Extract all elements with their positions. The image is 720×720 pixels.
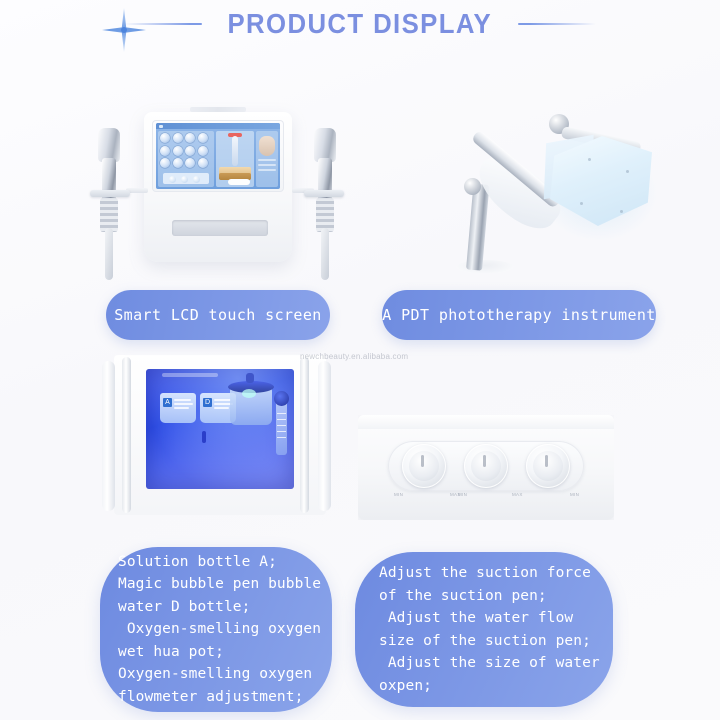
hua-pot-highlight — [242, 389, 256, 398]
left-handpiece — [92, 128, 126, 278]
bottom-icon — [181, 176, 188, 183]
handpiece-head — [314, 128, 336, 162]
bottle-d-label: D — [203, 398, 212, 407]
face-caption-line — [258, 164, 276, 166]
flowmeter-tick — [277, 437, 286, 438]
left-handpiece-holder — [90, 190, 130, 197]
function-icon — [198, 146, 208, 156]
right-handpiece — [308, 128, 342, 278]
solution-line: water D bottle; — [118, 596, 321, 619]
bottle-label-line — [214, 399, 231, 401]
adjust-text-block: Adjust the suction force of the suction … — [355, 562, 600, 697]
face-preview-icon — [259, 136, 275, 156]
solution-text-block: Solution bottle A; Magic bubble pen bubb… — [100, 551, 321, 709]
adjust-line: size of the suction pen; — [379, 630, 600, 653]
handpiece-grip — [100, 198, 118, 232]
caption-suction-adjustment: Adjust the suction force of the suction … — [355, 552, 613, 707]
pdt-phototherapy-lamp-photo — [420, 92, 680, 282]
solution-line: Magic bubble pen bubble — [118, 573, 321, 596]
knob-min-label: MIN — [458, 492, 467, 497]
flowmeter-tick — [277, 431, 286, 432]
solution-line: Oxygen-smelling oxygen — [118, 618, 321, 641]
panel-screw-icon — [620, 210, 623, 213]
screen-status-dot-icon — [159, 125, 163, 128]
wand-illustration — [232, 136, 238, 166]
function-icon — [173, 158, 183, 168]
face-caption-line — [258, 159, 276, 161]
flowmeter-tick — [277, 419, 286, 420]
handpiece-cord — [321, 228, 329, 280]
caption-pdt-label: A PDT phototherapy instrument — [382, 306, 656, 324]
chamber-tube — [202, 431, 206, 443]
machine-front-slot — [172, 220, 268, 236]
solution-bottle-a: A — [160, 393, 196, 423]
lamp-base — [456, 260, 514, 274]
flowmeter-valve-knob — [274, 391, 289, 406]
bottle-label-line — [174, 403, 193, 405]
function-icon — [198, 133, 208, 143]
function-icon — [160, 158, 170, 168]
screen-action-button — [228, 179, 250, 185]
function-icon — [160, 133, 170, 143]
handpiece-head — [98, 128, 120, 162]
panel-screw-icon — [626, 170, 629, 173]
bottle-a-label: A — [163, 398, 172, 407]
solution-line: wet hua pot; — [118, 641, 321, 664]
smart-lcd-machine-photo — [86, 92, 354, 282]
page-header: PRODUCT DISPLAY — [0, 0, 720, 58]
knob-indicator-icon — [421, 455, 424, 467]
handpiece-cord — [105, 228, 113, 280]
solution-line: Solution bottle A; — [118, 551, 321, 574]
function-icon — [173, 133, 183, 143]
hua-pot-knob — [246, 373, 254, 383]
suction-force-knob — [402, 444, 446, 488]
chamber-blue-interior: A D — [146, 369, 294, 489]
lcd-screen — [156, 123, 280, 189]
chamber-left-rail — [122, 357, 131, 513]
rule-left-icon — [124, 23, 202, 25]
function-icon — [185, 146, 195, 156]
chamber-right-rail — [300, 357, 309, 513]
bottom-icon — [193, 176, 200, 183]
right-handpiece-holder — [304, 190, 344, 197]
panel-top-edge — [358, 415, 614, 429]
solution-line: Oxygen-smelling oxygen — [118, 663, 321, 686]
flowmeter-tick — [277, 425, 286, 426]
chamber-left-rail-outer — [102, 361, 115, 511]
handpiece-grip — [316, 198, 334, 232]
lamp-lower-joint — [464, 178, 481, 195]
solution-line: flowmeter adjustment; — [118, 686, 321, 709]
screen-function-icon-grid — [160, 133, 212, 168]
machine-top-label — [190, 107, 246, 112]
knob-control-panel-photo: MIN MAX MIN MAX MIN — [358, 415, 614, 520]
oxygen-flowmeter — [276, 399, 287, 455]
knob-min-label: MIN — [394, 492, 403, 497]
chamber-top-bar — [162, 373, 218, 377]
adjust-line: of the suction pen; — [379, 585, 600, 608]
caption-lcd-touch-screen: Smart LCD touch screen — [106, 290, 330, 340]
knob-indicator-icon — [483, 455, 486, 467]
adjust-line: Adjust the size of water — [379, 652, 600, 675]
adjust-line: oxpen; — [379, 675, 600, 698]
title-row: PRODUCT DISPLAY — [0, 8, 720, 40]
product-display-page: PRODUCT DISPLAY — [0, 0, 720, 720]
function-icon — [185, 158, 195, 168]
flowmeter-tick — [277, 413, 286, 414]
bottle-label-line — [214, 407, 229, 409]
page-title: PRODUCT DISPLAY — [228, 8, 493, 40]
rule-right-icon — [518, 23, 596, 25]
knob-max-label: MAX — [512, 492, 523, 497]
function-icon — [173, 146, 183, 156]
water-flow-knob — [464, 444, 508, 488]
caption-solution-bottles: Solution bottle A; Magic bubble pen bubb… — [100, 547, 332, 712]
blue-chamber-photo: A D — [100, 355, 350, 520]
knob-indicator-icon — [545, 455, 548, 467]
panel-screw-icon — [580, 202, 583, 205]
adjust-line: Adjust the water flow — [379, 607, 600, 630]
function-icon — [185, 133, 195, 143]
water-oxygen-knob — [526, 444, 570, 488]
panel-screw-icon — [588, 158, 591, 161]
function-icon — [160, 146, 170, 156]
screen-topbar — [156, 123, 280, 129]
function-icon — [198, 158, 208, 168]
knob-min-label: MIN — [570, 492, 579, 497]
caption-lcd-label: Smart LCD touch screen — [114, 306, 321, 324]
watermark: newchbeauty.en.alibaba.com — [300, 352, 408, 361]
bottle-label-line — [174, 399, 191, 401]
screen-bottom-bar — [163, 173, 209, 184]
adjust-line: Adjust the suction force — [379, 562, 600, 585]
caption-pdt-instrument: A PDT phototherapy instrument — [382, 290, 656, 340]
bottle-label-line — [174, 407, 189, 409]
lamp-pole — [466, 184, 489, 271]
face-caption-line — [258, 169, 276, 171]
bottom-icon — [169, 176, 176, 183]
chamber-right-rail-outer — [318, 361, 331, 511]
